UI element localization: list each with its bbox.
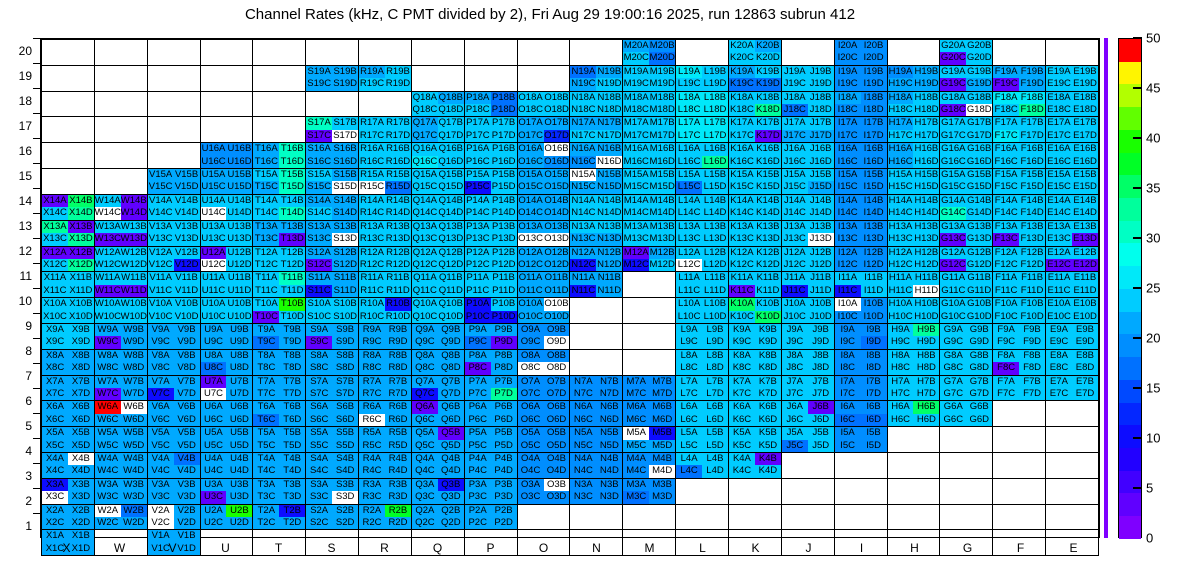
channel-p18b[interactable]: P18B [491,92,517,104]
channel-u7b[interactable]: U7B [226,376,252,388]
channel-g17c[interactable]: G17C [940,130,966,142]
channel-q5a[interactable]: Q5A [412,427,438,439]
channel-u12a[interactable]: U12A [201,247,227,259]
channel-r4a[interactable]: R4A [359,453,385,465]
heatmap-cell-q18[interactable]: Q18AQ18BQ18CQ18D [411,91,464,117]
channel-i9c[interactable]: I9C [835,336,861,348]
channel-m5b[interactable]: M5B [649,427,675,439]
channel-s8b[interactable]: S8B [332,350,358,362]
channel-v14c[interactable]: V14C [148,207,174,219]
channel-h14a[interactable]: H14A [888,195,914,207]
channel-t4c[interactable]: T4C [253,465,279,477]
channel-x2b[interactable]: X2B [68,505,94,517]
channel-h13a[interactable]: H13A [888,221,914,233]
channel-g8c[interactable]: G8C [940,362,966,374]
channel-p2d[interactable]: P2D [491,517,517,529]
channel-j7a[interactable]: J7A [782,376,808,388]
channel-w12b[interactable]: W12B [121,247,147,259]
channel-h14b[interactable]: H14B [913,195,939,207]
heatmap-cell-h2[interactable] [887,504,940,530]
heatmap-cell-r20[interactable] [359,40,412,66]
channel-l18c[interactable]: L18C [676,104,702,116]
channel-p10c[interactable]: P10C [465,311,491,323]
channel-u2c[interactable]: U2C [201,517,227,529]
channel-r6c[interactable]: R6C [359,414,385,426]
heatmap-cell-o10[interactable]: O10AO10BO10CO10D [517,298,570,324]
channel-j7b[interactable]: J7B [808,376,834,388]
channel-t3b[interactable]: T3B [279,479,305,491]
channel-f19b[interactable]: F19B [1019,66,1045,78]
channel-p6a[interactable]: P6A [465,401,491,413]
channel-p14c[interactable]: P14C [465,207,491,219]
channel-m3d[interactable]: M3D [649,491,675,503]
channel-v7a[interactable]: V7A [148,376,174,388]
heatmap-cell-w17[interactable] [94,117,147,143]
channel-p5d[interactable]: P5D [491,440,517,452]
channel-n12b[interactable]: N12B [596,247,622,259]
channel-w12d[interactable]: W12D [121,259,147,271]
channel-e8b[interactable]: E8B [1072,350,1098,362]
heatmap-cell-m18[interactable]: M18AM18BM18CM18D [623,91,676,117]
channel-u10d[interactable]: U10D [226,311,252,323]
channel-r12d[interactable]: R12D [385,259,411,271]
channel-o10a[interactable]: O10A [518,298,544,310]
channel-t11d[interactable]: T11D [279,285,305,297]
channel-f17b[interactable]: F17B [1019,117,1045,129]
channel-s3c[interactable]: S3C [306,491,332,503]
channel-n18d[interactable]: N18D [596,104,622,116]
heatmap-cell-e5[interactable] [1046,427,1099,453]
heatmap-cell-w7[interactable]: W7AW7BW7CW7D [94,375,147,401]
channel-i11d[interactable]: I11D [861,285,887,297]
channel-n5a[interactable]: N5A [570,427,596,439]
heatmap-cell-o17[interactable]: O17AO17BO17CO17D [517,117,570,143]
heatmap-cell-x8[interactable]: X8AX8BX8CX8D [42,349,95,375]
channel-e10a[interactable]: E10A [1046,298,1072,310]
channel-q2b[interactable]: Q2B [438,505,464,517]
channel-k5d[interactable]: K5D [755,440,781,452]
channel-m14b[interactable]: M14B [649,195,675,207]
channel-f19c[interactable]: F19C [993,78,1019,90]
heatmap-cell-j7[interactable]: J7AJ7BJ7CJ7D [781,375,834,401]
channel-v15a[interactable]: V15A [148,169,174,181]
channel-g19c[interactable]: G19C [940,78,966,90]
channel-r3d[interactable]: R3D [385,491,411,503]
channel-j10c[interactable]: J10C [782,311,808,323]
heatmap-cell-r7[interactable]: R7AR7BR7CR7D [359,375,412,401]
channel-t2c[interactable]: T2C [253,517,279,529]
channel-j5a[interactable]: J5A [782,427,808,439]
heatmap-cell-u16[interactable]: U16AU16BU16CU16D [200,143,253,169]
heatmap-cell-v19[interactable] [147,65,200,91]
channel-w2d[interactable]: W2D [121,517,147,529]
channel-f16c[interactable]: F16C [993,156,1019,168]
channel-j8a[interactable]: J8A [782,350,808,362]
heatmap-cell-p16[interactable]: P16AP16BP16CP16D [464,143,517,169]
channel-v6c[interactable]: V6C [148,414,174,426]
heatmap-cell-t10[interactable]: T10AT10BT10CT10D [253,298,306,324]
heatmap-cell-o7[interactable]: O7AO7BO7CO7D [517,375,570,401]
channel-m7d[interactable]: M7D [649,388,675,400]
channel-n15d[interactable]: N15D [596,181,622,193]
channel-t16d[interactable]: T16D [279,156,305,168]
channel-t9b[interactable]: T9B [279,324,305,336]
channel-v6a[interactable]: V6A [148,401,174,413]
channel-u3c[interactable]: U3C [201,491,227,503]
channel-m3c[interactable]: M3C [623,491,649,503]
heatmap-cell-v18[interactable] [147,91,200,117]
channel-g9b[interactable]: G9B [966,324,992,336]
channel-u10a[interactable]: U10A [201,298,227,310]
channel-s15c[interactable]: S15C [306,181,332,193]
channel-u5b[interactable]: U5B [226,427,252,439]
channel-e8a[interactable]: E8A [1046,350,1072,362]
heatmap-cell-g16[interactable]: G16AG16BG16CG16D [940,143,993,169]
channel-n16c[interactable]: N16C [570,156,596,168]
channel-q18c[interactable]: Q18C [412,104,438,116]
channel-t2a[interactable]: T2A [253,505,279,517]
channel-h11b[interactable]: H11B [913,272,939,284]
channel-n12a[interactable]: N12A [570,247,596,259]
channel-h11c[interactable]: H11C [888,285,914,297]
heatmap-cell-l18[interactable]: L18AL18BL18CL18D [676,91,729,117]
heatmap-cell-e13[interactable]: E13AE13BE13CE13D [1046,220,1099,246]
channel-w6a[interactable]: W6A [95,401,121,413]
channel-i12c[interactable]: I12C [835,259,861,271]
channel-s10a[interactable]: S10A [306,298,332,310]
channel-f19a[interactable]: F19A [993,66,1019,78]
channel-g17b[interactable]: G17B [966,117,992,129]
channel-p17b[interactable]: P17B [491,117,517,129]
channel-g17a[interactable]: G17A [940,117,966,129]
channel-g19d[interactable]: G19D [966,78,992,90]
channel-f13a[interactable]: F13A [993,221,1019,233]
channel-u11a[interactable]: U11A [201,272,227,284]
channel-r8c[interactable]: R8C [359,362,385,374]
channel-j10d[interactable]: J10D [808,311,834,323]
channel-q13c[interactable]: Q13C [412,233,438,245]
channel-h11d[interactable]: H11D [913,285,939,297]
channel-w10b[interactable]: W10B [121,298,147,310]
channel-r4c[interactable]: R4C [359,465,385,477]
heatmap-cell-i2[interactable] [834,504,887,530]
heatmap-cell-o19[interactable] [517,65,570,91]
channel-p14d[interactable]: P14D [491,207,517,219]
channel-u4d[interactable]: U4D [226,465,252,477]
channel-w3a[interactable]: W3A [95,479,121,491]
channel-h12b[interactable]: H12B [913,247,939,259]
channel-q3a[interactable]: Q3A [412,479,438,491]
channel-l19a[interactable]: L19A [676,66,702,78]
channel-u14c[interactable]: U14C [201,207,227,219]
channel-g12d[interactable]: G12D [966,259,992,271]
channel-r9a[interactable]: R9A [359,324,385,336]
channel-e9c[interactable]: E9C [1046,336,1072,348]
heatmap-cell-e11[interactable]: E11AE11BE11CE11D [1046,272,1099,298]
channel-u12b[interactable]: U12B [226,247,252,259]
channel-k7a[interactable]: K7A [729,376,755,388]
heatmap-cell-t4[interactable]: T4AT4BT4CT4D [253,453,306,479]
channel-f13c[interactable]: F13C [993,233,1019,245]
channel-i6c[interactable]: I6C [835,414,861,426]
channel-k20a[interactable]: K20A [729,40,755,52]
heatmap-cell-w12[interactable]: W12AW12BW12CW12D [94,246,147,272]
channel-l19b[interactable]: L19B [702,66,728,78]
channel-g20d[interactable]: G20D [966,52,992,64]
channel-g11b[interactable]: G11B [966,272,992,284]
channel-r13b[interactable]: R13B [385,221,411,233]
channel-t10a[interactable]: T10A [253,298,279,310]
channel-u4b[interactable]: U4B [226,453,252,465]
channel-r2a[interactable]: R2A [359,505,385,517]
channel-p17d[interactable]: P17D [491,130,517,142]
channel-r12c[interactable]: R12C [359,259,385,271]
channel-q14a[interactable]: Q14A [412,195,438,207]
channel-x7d[interactable]: X7D [68,388,94,400]
channel-w7d[interactable]: W7D [121,388,147,400]
channel-l11b[interactable]: L11B [702,272,728,284]
heatmap-cell-k11[interactable]: K11AK11BK11CK11D [728,272,781,298]
channel-t3d[interactable]: T3D [279,491,305,503]
heatmap-cell-i7[interactable]: I7AI7BI7CI7D [834,375,887,401]
channel-q5b[interactable]: Q5B [438,427,464,439]
heatmap-cell-v2[interactable]: V2AV2BV2CV2D [147,504,200,530]
heatmap-cell-u19[interactable] [200,65,253,91]
channel-u8c[interactable]: U8C [201,362,227,374]
channel-e10c[interactable]: E10C [1046,311,1072,323]
heatmap-cell-o4[interactable]: O4AO4BO4CO4D [517,453,570,479]
heatmap-cell-f17[interactable]: F17AF17BF17CF17D [993,117,1046,143]
heatmap-cell-f8[interactable]: F8AF8BF8CF8D [993,349,1046,375]
channel-o17b[interactable]: O17B [544,117,570,129]
channel-j5c[interactable]: J5C [782,440,808,452]
channel-l18a[interactable]: L18A [676,92,702,104]
channel-k4b[interactable]: K4B [755,453,781,465]
channel-m4c[interactable]: M4C [623,465,649,477]
channel-o10d[interactable]: O10D [544,311,570,323]
channel-f10b[interactable]: F10B [1019,298,1045,310]
channel-e17a[interactable]: E17A [1046,117,1072,129]
channel-k20b[interactable]: K20B [755,40,781,52]
channel-q8c[interactable]: Q8C [412,362,438,374]
heatmap-cell-s10[interactable]: S10AS10BS10CS10D [306,298,359,324]
channel-f7d[interactable]: F7D [1019,388,1045,400]
channel-v5d[interactable]: V5D [174,440,200,452]
channel-k9c[interactable]: K9C [729,336,755,348]
channel-q11b[interactable]: Q11B [438,272,464,284]
channel-g6d[interactable]: G6D [966,414,992,426]
heatmap-cell-p17[interactable]: P17AP17BP17CP17D [464,117,517,143]
heatmap-cell-t14[interactable]: T14AT14BT14CT14D [253,194,306,220]
heatmap-cell-u8[interactable]: U8AU8BU8CU8D [200,349,253,375]
channel-p12b[interactable]: P12B [491,247,517,259]
channel-i17c[interactable]: I17C [835,130,861,142]
channel-p2a[interactable]: P2A [465,505,491,517]
channel-i16c[interactable]: I16C [835,156,861,168]
channel-o9d[interactable]: O9D [544,336,570,348]
channel-o17a[interactable]: O17A [518,117,544,129]
channel-p12c[interactable]: P12C [465,259,491,271]
channel-s13d[interactable]: S13D [332,233,358,245]
channel-v10c[interactable]: V10C [148,311,174,323]
channel-o13c[interactable]: O13C [518,233,544,245]
channel-s10b[interactable]: S10B [332,298,358,310]
channel-t11b[interactable]: T11B [279,272,305,284]
channel-j11b[interactable]: J11B [808,272,834,284]
heatmap-cell-i10[interactable]: I10AI10BI10CI10D [834,298,887,324]
heatmap-cell-n16[interactable]: N16AN16BN16CN16D [570,143,623,169]
channel-t7d[interactable]: T7D [279,388,305,400]
channel-n18c[interactable]: N18C [570,104,596,116]
channel-m18a[interactable]: M18A [623,92,649,104]
heatmap-cell-r14[interactable]: R14AR14BR14CR14D [359,194,412,220]
channel-u16d[interactable]: U16D [226,156,252,168]
channel-s9d[interactable]: S9D [332,336,358,348]
channel-p17c[interactable]: P17C [465,130,491,142]
heatmap-cell-m16[interactable]: M16AM16BM16CM16D [623,143,676,169]
channel-q18b[interactable]: Q18B [438,92,464,104]
channel-f17c[interactable]: F17C [993,130,1019,142]
channel-j19d[interactable]: J19D [808,78,834,90]
heatmap-cell-i5[interactable]: I5AI5BI5CI5D [834,427,887,453]
channel-f18c[interactable]: F18C [993,104,1019,116]
channel-n11d[interactable]: N11D [596,285,622,297]
channel-f10c[interactable]: F10C [993,311,1019,323]
channel-p13b[interactable]: P13B [491,221,517,233]
channel-q9a[interactable]: Q9A [412,324,438,336]
heatmap-cell-e16[interactable]: E16AE16BE16CE16D [1046,143,1099,169]
channel-p18d[interactable]: P18D [491,104,517,116]
channel-i8a[interactable]: I8A [835,350,861,362]
channel-l11a[interactable]: L11A [676,272,702,284]
channel-u3b[interactable]: U3B [226,479,252,491]
channel-s4d[interactable]: S4D [332,465,358,477]
channel-r15d[interactable]: R15D [385,181,411,193]
channel-l4d[interactable]: L4D [702,465,728,477]
channel-v15d[interactable]: V15D [174,181,200,193]
channel-p5b[interactable]: P5B [491,427,517,439]
channel-k9a[interactable]: K9A [729,324,755,336]
channel-f15a[interactable]: F15A [993,169,1019,181]
heatmap-cell-w16[interactable] [94,143,147,169]
channel-i9a[interactable]: I9A [835,324,861,336]
channel-s5b[interactable]: S5B [332,427,358,439]
heatmap-cell-r6[interactable]: R6AR6BR6CR6D [359,401,412,427]
channel-l14b[interactable]: L14B [702,195,728,207]
channel-w9b[interactable]: W9B [121,324,147,336]
heatmap-cell-p14[interactable]: P14AP14BP14CP14D [464,194,517,220]
channel-f7b[interactable]: F7B [1019,376,1045,388]
channel-q8b[interactable]: Q8B [438,350,464,362]
channel-t12b[interactable]: T12B [279,247,305,259]
channel-r6b[interactable]: R6B [385,401,411,413]
channel-h18a[interactable]: H18A [888,92,914,104]
channel-q7b[interactable]: Q7B [438,376,464,388]
channel-o5a[interactable]: O5A [518,427,544,439]
heatmap-cell-w13[interactable]: W13AW13BW13CW13D [94,220,147,246]
channel-o15b[interactable]: O15B [544,169,570,181]
channel-k10b[interactable]: K10B [755,298,781,310]
channel-m15d[interactable]: M15D [649,181,675,193]
channel-n11a[interactable]: N11A [570,272,596,284]
channel-p3a[interactable]: P3A [465,479,491,491]
channel-o3b[interactable]: O3B [544,479,570,491]
channel-i6a[interactable]: I6A [835,401,861,413]
channel-o7d[interactable]: O7D [544,388,570,400]
heatmap-cell-n19[interactable]: N19AN19BN19CN19D [570,65,623,91]
channel-q7d[interactable]: Q7D [438,388,464,400]
heatmap-cell-n4[interactable]: N4AN4BN4CN4D [570,453,623,479]
heatmap-cell-k4[interactable]: K4AK4BK4CK4D [728,453,781,479]
channel-i18b[interactable]: I18B [861,92,887,104]
channel-x4b[interactable]: X4B [68,453,94,465]
channel-p4c[interactable]: P4C [465,465,491,477]
channel-t8d[interactable]: T8D [279,362,305,374]
channel-l19c[interactable]: L19C [676,78,702,90]
channel-x11b[interactable]: X11B [68,272,94,284]
channel-w13a[interactable]: W13A [95,221,121,233]
channel-o18b[interactable]: O18B [544,92,570,104]
channel-r7c[interactable]: R7C [359,388,385,400]
channel-p10d[interactable]: P10D [491,311,517,323]
channel-t8b[interactable]: T8B [279,350,305,362]
channel-u11b[interactable]: U11B [226,272,252,284]
channel-p12a[interactable]: P12A [465,247,491,259]
heatmap-cell-w4[interactable]: W4AW4BW4CW4D [94,453,147,479]
heatmap-cell-m10[interactable] [623,298,676,324]
heatmap-cell-i8[interactable]: I8AI8BI8CI8D [834,349,887,375]
channel-o12b[interactable]: O12B [544,247,570,259]
channel-g11d[interactable]: G11D [966,285,992,297]
channel-e7a[interactable]: E7A [1046,376,1072,388]
channel-h17c[interactable]: H17C [888,130,914,142]
channel-w14b[interactable]: W14B [121,195,147,207]
channel-k18c[interactable]: K18C [729,104,755,116]
heatmap-cell-x13[interactable]: X13AX13BX13CX13D [42,220,95,246]
channel-s15a[interactable]: S15A [306,169,332,181]
channel-e14d[interactable]: E14D [1072,207,1098,219]
heatmap-cell-h20[interactable] [887,40,940,66]
channel-p8b[interactable]: P8B [491,350,517,362]
channel-p3d[interactable]: P3D [491,491,517,503]
heatmap-cell-r8[interactable]: R8AR8BR8CR8D [359,349,412,375]
heatmap-cell-h17[interactable]: H17AH17BH17CH17D [887,117,940,143]
channel-s4c[interactable]: S4C [306,465,332,477]
channel-m12a[interactable]: M12A [623,247,649,259]
channel-s7c[interactable]: S7C [306,388,332,400]
heatmap-cell-g12[interactable]: G12AG12BG12CG12D [940,246,993,272]
heatmap-cell-s6[interactable]: S6AS6BS6CS6D [306,401,359,427]
heatmap-cell-u10[interactable]: U10AU10BU10CU10D [200,298,253,324]
channel-u13c[interactable]: U13C [201,233,227,245]
channel-r12b[interactable]: R12B [385,247,411,259]
channel-h14d[interactable]: H14D [913,207,939,219]
channel-j5d[interactable]: J5D [808,440,834,452]
heatmap-cell-j3[interactable] [781,478,834,504]
channel-p3b[interactable]: P3B [491,479,517,491]
channel-q17b[interactable]: Q17B [438,117,464,129]
heatmap-cell-p6[interactable]: P6AP6BP6CP6D [464,401,517,427]
heatmap-cell-g5[interactable] [940,427,993,453]
heatmap-cell-i19[interactable]: I19AI19BI19CI19D [834,65,887,91]
channel-m17d[interactable]: M17D [649,130,675,142]
channel-r7d[interactable]: R7D [385,388,411,400]
channel-r15a[interactable]: R15A [359,169,385,181]
channel-s13c[interactable]: S13C [306,233,332,245]
channel-v14a[interactable]: V14A [148,195,174,207]
channel-x13d[interactable]: X13D [68,233,94,245]
heatmap-cell-r11[interactable]: R11AR11BR11CR11D [359,272,412,298]
